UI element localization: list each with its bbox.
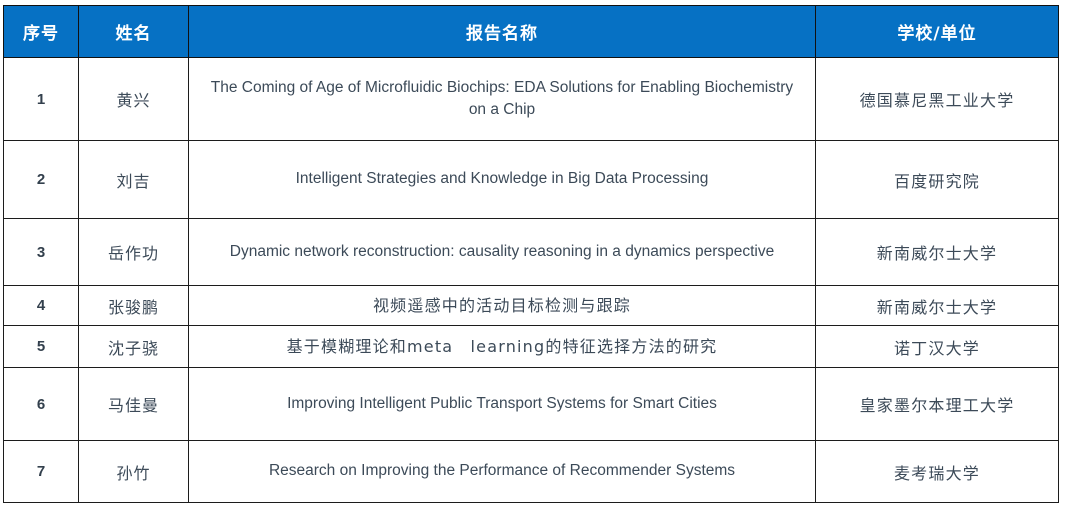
cell-name: 岳作功 xyxy=(79,219,189,286)
cell-name: 沈子骁 xyxy=(79,326,189,368)
cell-title: Research on Improving the Performance of… xyxy=(189,441,816,503)
cell-no: 4 xyxy=(4,286,79,326)
cell-title: Improving Intelligent Public Transport S… xyxy=(189,368,816,441)
cell-no: 2 xyxy=(4,141,79,219)
column-header-name[interactable]: 姓名 xyxy=(79,6,189,58)
table-row[interactable]: 2 刘吉 Intelligent Strategies and Knowledg… xyxy=(4,141,1059,219)
cell-name: 马佳曼 xyxy=(79,368,189,441)
report-schedule-table: 序号 姓名 报告名称 学校/单位 1 黄兴 The Coming of Age … xyxy=(3,5,1059,503)
column-header-no[interactable]: 序号 xyxy=(4,6,79,58)
cell-no: 3 xyxy=(4,219,79,286)
cell-org: 新南威尔士大学 xyxy=(816,219,1059,286)
table-row[interactable]: 1 黄兴 The Coming of Age of Microfluidic B… xyxy=(4,58,1059,141)
cell-title: Dynamic network reconstruction: causalit… xyxy=(189,219,816,286)
spreadsheet-canvas: 序号 姓名 报告名称 学校/单位 1 黄兴 The Coming of Age … xyxy=(0,0,1068,508)
table-header-row: 序号 姓名 报告名称 学校/单位 xyxy=(4,6,1059,58)
table-row[interactable]: 7 孙竹 Research on Improving the Performan… xyxy=(4,441,1059,503)
cell-org: 皇家墨尔本理工大学 xyxy=(816,368,1059,441)
cell-name: 孙竹 xyxy=(79,441,189,503)
cell-name: 张骏鹏 xyxy=(79,286,189,326)
cell-org: 德国慕尼黑工业大学 xyxy=(816,58,1059,141)
table-row[interactable]: 6 马佳曼 Improving Intelligent Public Trans… xyxy=(4,368,1059,441)
cell-title: Intelligent Strategies and Knowledge in … xyxy=(189,141,816,219)
cell-org: 麦考瑞大学 xyxy=(816,441,1059,503)
table-row[interactable]: 3 岳作功 Dynamic network reconstruction: ca… xyxy=(4,219,1059,286)
cell-title: 视频遥感中的活动目标检测与跟踪 xyxy=(189,286,816,326)
column-header-org[interactable]: 学校/单位 xyxy=(816,6,1059,58)
cell-title: The Coming of Age of Microfluidic Biochi… xyxy=(189,58,816,141)
cell-org: 新南威尔士大学 xyxy=(816,286,1059,326)
cell-name: 刘吉 xyxy=(79,141,189,219)
table-row[interactable]: 4 张骏鹏 视频遥感中的活动目标检测与跟踪 新南威尔士大学 xyxy=(4,286,1059,326)
cell-title: 基于模糊理论和meta learning的特征选择方法的研究 xyxy=(189,326,816,368)
table-body: 1 黄兴 The Coming of Age of Microfluidic B… xyxy=(4,58,1059,503)
cell-no: 5 xyxy=(4,326,79,368)
column-header-title[interactable]: 报告名称 xyxy=(189,6,816,58)
cell-name: 黄兴 xyxy=(79,58,189,141)
cell-no: 6 xyxy=(4,368,79,441)
cell-org: 百度研究院 xyxy=(816,141,1059,219)
table-header: 序号 姓名 报告名称 学校/单位 xyxy=(4,6,1059,58)
cell-no: 7 xyxy=(4,441,79,503)
cell-no: 1 xyxy=(4,58,79,141)
table-row[interactable]: 5 沈子骁 基于模糊理论和meta learning的特征选择方法的研究 诺丁汉… xyxy=(4,326,1059,368)
cell-org: 诺丁汉大学 xyxy=(816,326,1059,368)
